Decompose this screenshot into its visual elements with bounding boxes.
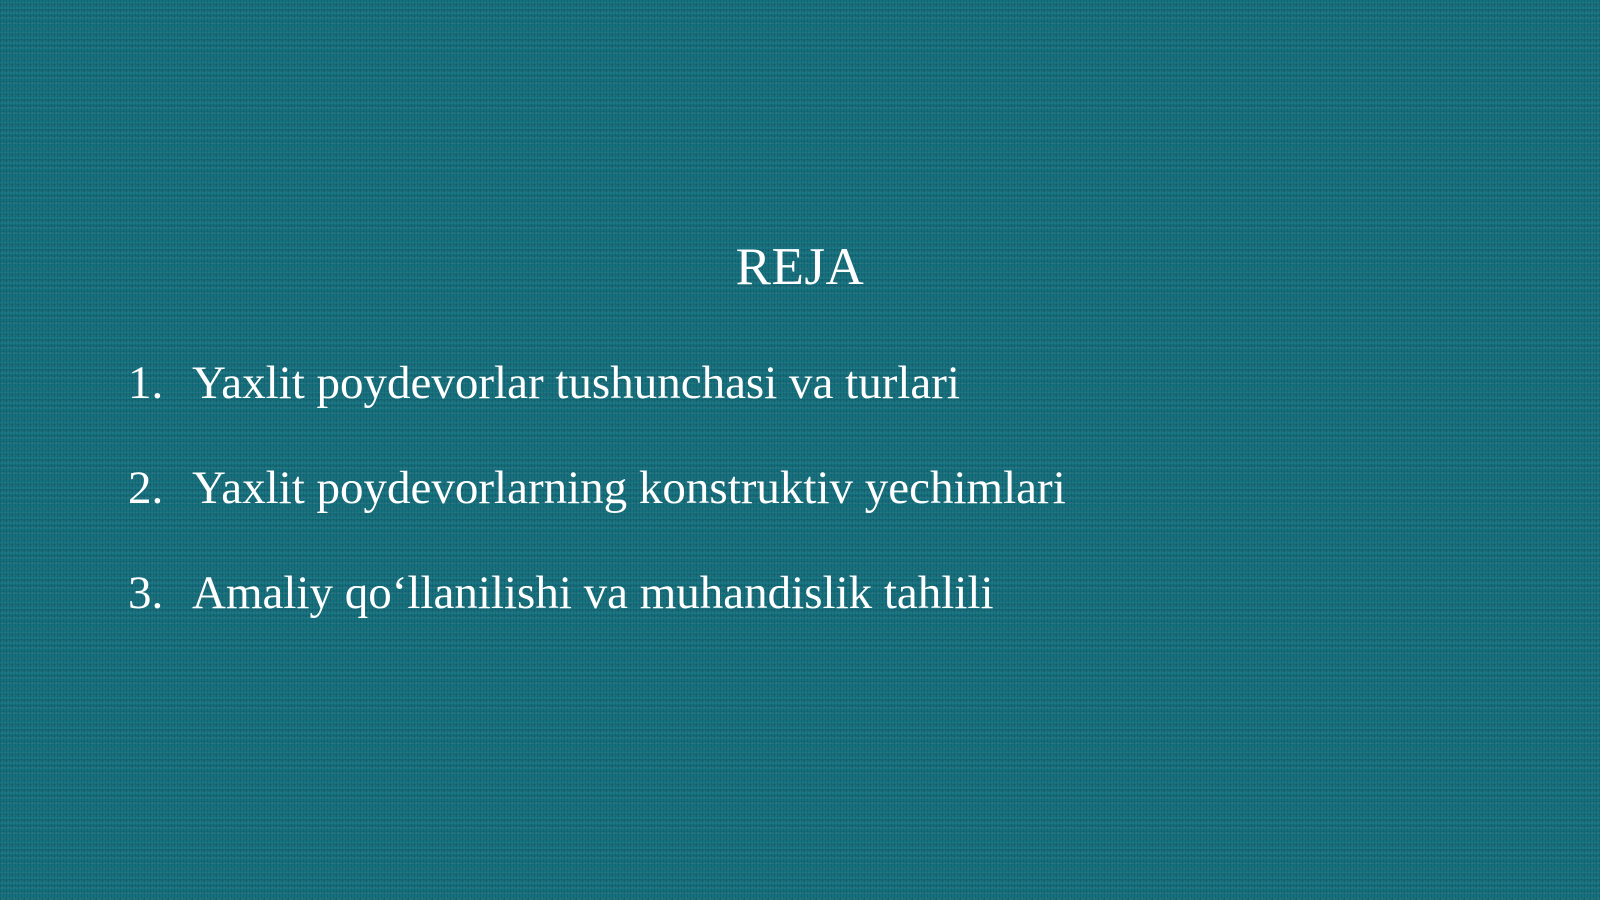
- list-item-label: Amaliy qo‘llanilishi va muhandislik tahl…: [192, 562, 994, 624]
- agenda-list: 1. Yaxlit poydevorlar tushunchasi va tur…: [128, 352, 1508, 667]
- list-item-number: 2.: [128, 457, 192, 519]
- presentation-slide: REJA 1. Yaxlit poydevorlar tushunchasi v…: [0, 0, 1600, 900]
- list-item: 1. Yaxlit poydevorlar tushunchasi va tur…: [128, 352, 1508, 457]
- list-item: 3. Amaliy qo‘llanilishi va muhandislik t…: [128, 562, 1508, 667]
- list-item-number: 1.: [128, 352, 192, 414]
- list-item-number: 3.: [128, 562, 192, 624]
- list-item-label: Yaxlit poydevorlarning konstruktiv yechi…: [192, 457, 1066, 519]
- page-title: REJA: [0, 238, 1600, 296]
- slide-content: REJA 1. Yaxlit poydevorlar tushunchasi v…: [0, 0, 1600, 900]
- list-item-label: Yaxlit poydevorlar tushunchasi va turlar…: [192, 352, 960, 414]
- list-item: 2. Yaxlit poydevorlarning konstruktiv ye…: [128, 457, 1508, 562]
